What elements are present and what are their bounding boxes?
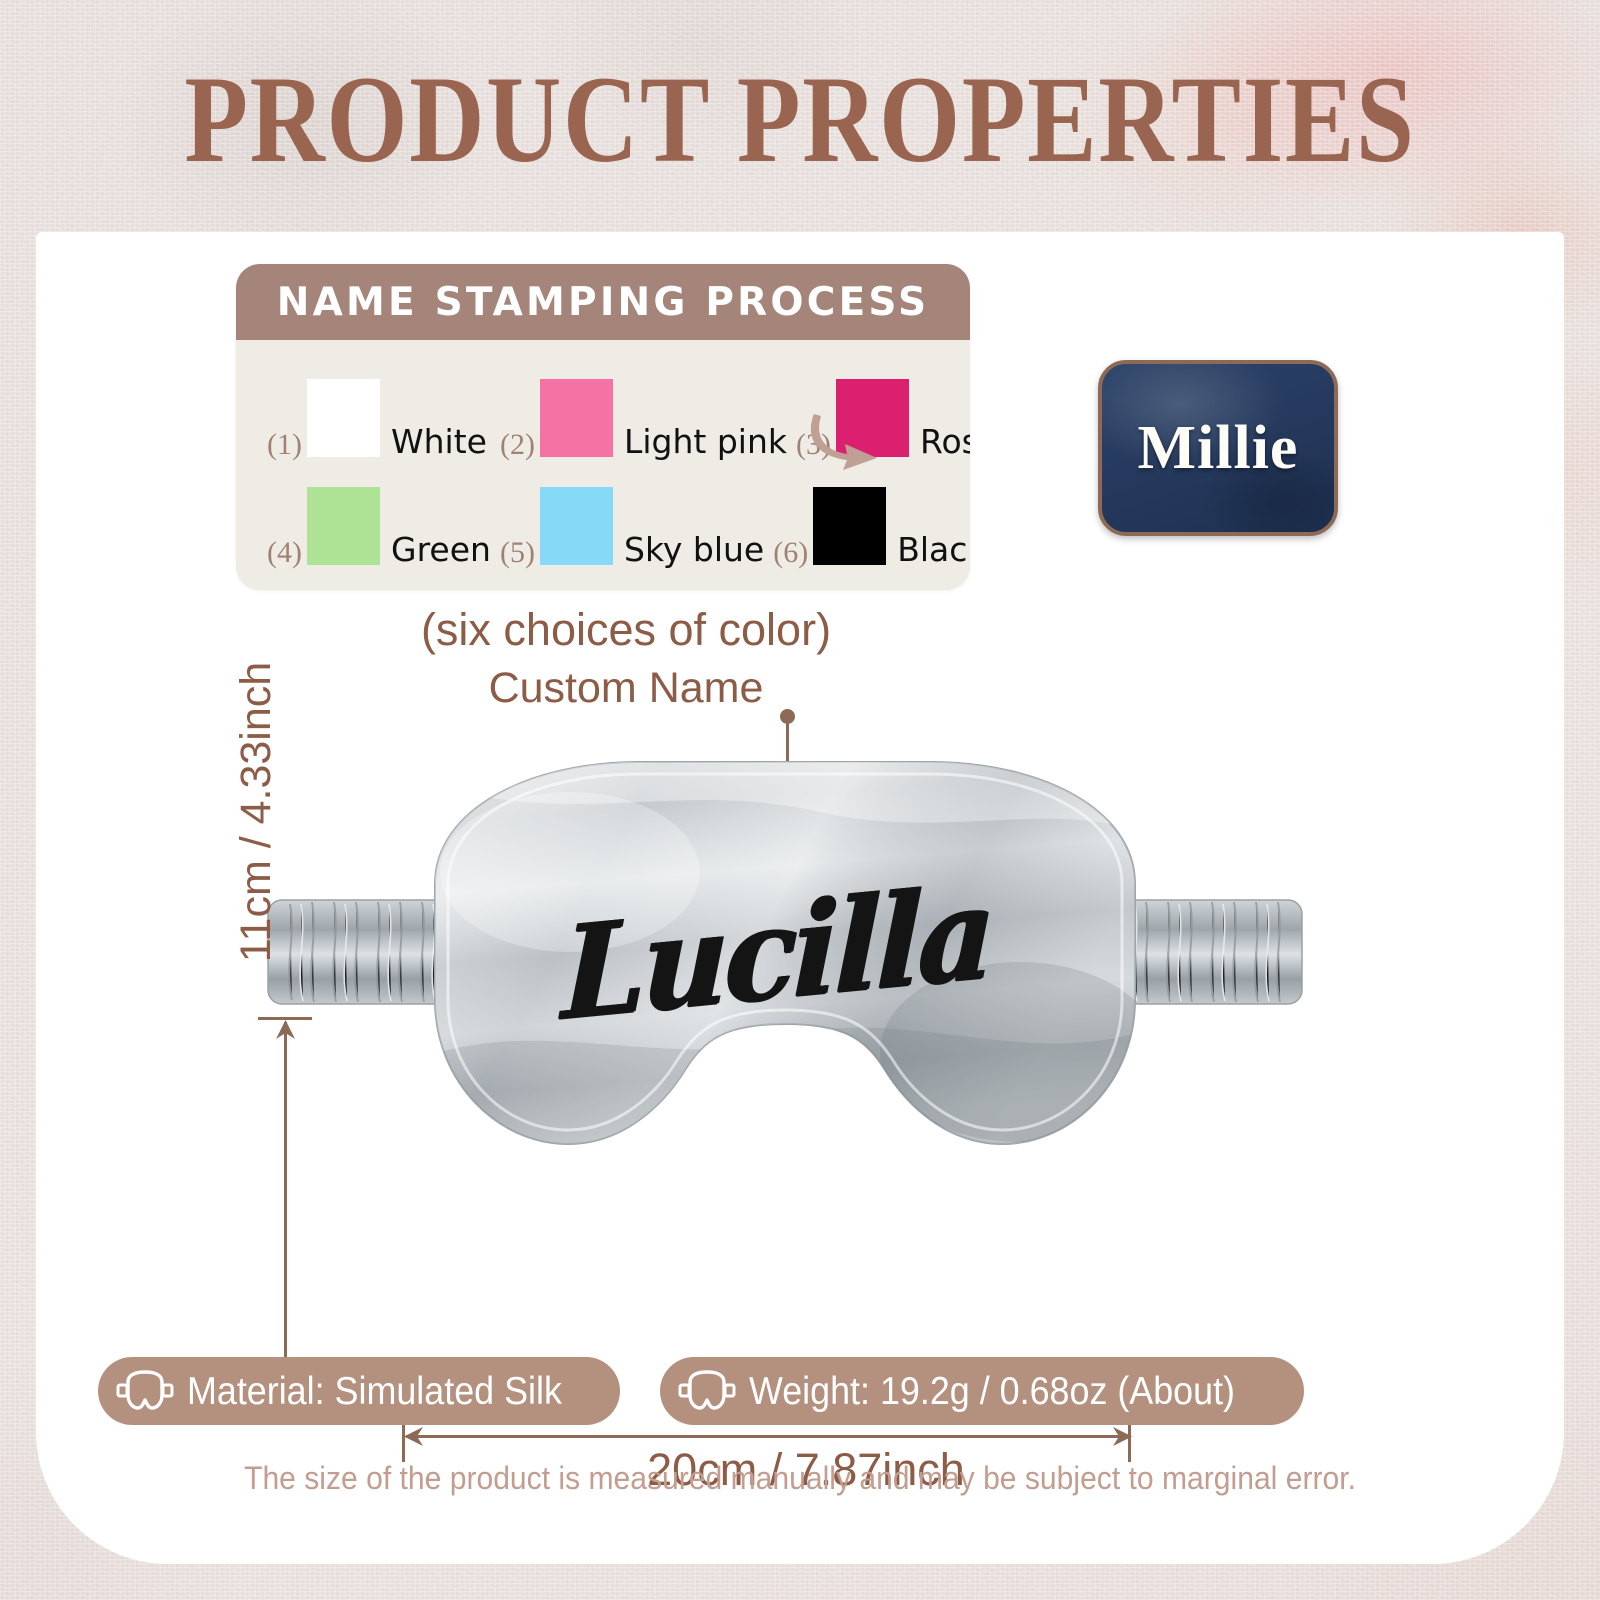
swatch-panel-header: NAME STAMPING PROCESS xyxy=(236,264,970,340)
curved-arrow-icon xyxy=(801,400,891,490)
color-chip-white[interactable] xyxy=(307,379,380,457)
dim-vertical-arrow-line xyxy=(284,1022,287,1384)
color-choices-caption: (six choices of color) xyxy=(36,604,1216,656)
swatch-label: Rose pink xyxy=(920,425,970,472)
swatch-option-sky-blue[interactable]: (5) Sky blue xyxy=(491,472,764,580)
color-chip-sky-blue[interactable] xyxy=(540,487,613,565)
swatch-option-white[interactable]: (1) White xyxy=(258,364,491,472)
dim-horizontal-arrow-line xyxy=(406,1435,1128,1438)
sleep-mask-illustration xyxy=(260,752,1310,1192)
dim-vertical-arrowhead-top xyxy=(275,1020,296,1040)
content-card: NAME STAMPING PROCESS (1) White (2) Ligh… xyxy=(36,232,1564,1564)
swatch-index: (1) xyxy=(258,430,302,472)
swatch-option-light-pink[interactable]: (2) Light pink xyxy=(491,364,787,472)
swatch-label: Sky blue xyxy=(624,533,764,580)
swatch-panel-title: NAME STAMPING PROCESS xyxy=(277,280,930,325)
swatch-index: (5) xyxy=(491,538,535,580)
sleep-mask-icon xyxy=(116,1370,174,1412)
dim-height-label: 11cm / 4.33inch xyxy=(232,602,281,1022)
spec-badges: Material: Simulated Silk Weight: 19.2g /… xyxy=(98,1357,1518,1425)
badge-weight: Weight: 19.2g / 0.68oz (About) xyxy=(660,1357,1303,1425)
swatch-index: (2) xyxy=(491,430,535,472)
swatch-label: White xyxy=(391,425,487,472)
swatch-option-green[interactable]: (4) Green xyxy=(258,472,491,580)
sleep-mask-product-image: Lucilla xyxy=(260,752,1310,1192)
swatch-label: Black xyxy=(897,533,970,580)
dim-horizontal-arrowhead-left xyxy=(404,1426,424,1447)
swatch-index: (6) xyxy=(764,538,808,580)
page-title: PRODUCT PROPERTIES xyxy=(128,58,1472,182)
sleep-mask-icon xyxy=(678,1370,736,1412)
swatch-label: Green xyxy=(391,533,491,580)
color-chip-light-pink[interactable] xyxy=(540,379,613,457)
color-chip-black[interactable] xyxy=(813,487,886,565)
badge-weight-text: Weight: 19.2g / 0.68oz (About) xyxy=(749,1372,1235,1411)
badge-material: Material: Simulated Silk xyxy=(98,1357,620,1425)
swatch-label: Light pink xyxy=(624,425,787,472)
badge-material-text: Material: Simulated Silk xyxy=(187,1372,562,1411)
color-chip-green[interactable] xyxy=(307,487,380,565)
personalised-pouch-preview: Millie xyxy=(1098,360,1338,536)
custom-name-caption: Custom Name xyxy=(36,664,1216,713)
measurement-disclaimer: The size of the product is measured manu… xyxy=(82,1460,1518,1497)
swatch-index: (4) xyxy=(258,538,302,580)
mask-body xyxy=(430,757,1160,1149)
pouch-name-text: Millie xyxy=(1138,413,1299,484)
